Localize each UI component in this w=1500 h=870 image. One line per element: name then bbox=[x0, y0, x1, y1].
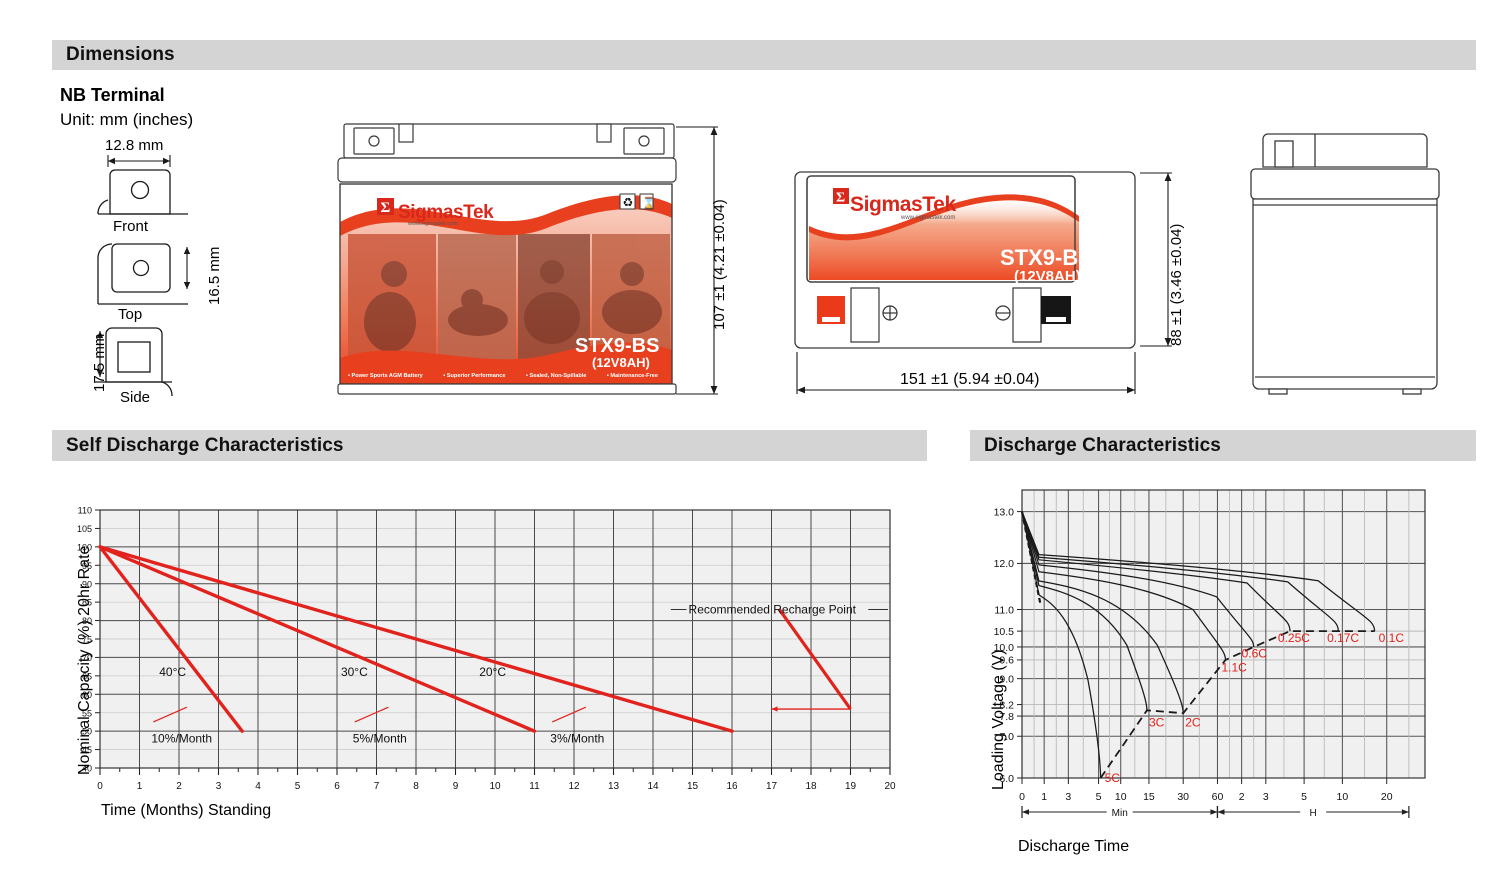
svg-text:Σ: Σ bbox=[836, 191, 845, 206]
svg-text:Min: Min bbox=[1112, 808, 1128, 819]
svg-text:60: 60 bbox=[1212, 791, 1224, 803]
feature-item: • Maintenance-Free bbox=[607, 373, 658, 379]
svg-text:40°C: 40°C bbox=[159, 665, 186, 679]
svg-text:14: 14 bbox=[647, 781, 659, 792]
nb-terminal-title: NB Terminal bbox=[60, 85, 165, 106]
terminal-view-front-label: Front bbox=[113, 218, 148, 235]
svg-text:7: 7 bbox=[374, 781, 380, 792]
self-discharge-ylabel: Nominal Capacity (%) 20hr Rate bbox=[76, 546, 94, 775]
svg-text:3: 3 bbox=[1263, 791, 1269, 803]
svg-text:5%/Month: 5%/Month bbox=[353, 732, 407, 746]
discharge-xlabel: Discharge Time bbox=[1018, 838, 1129, 856]
svg-text:1.1C: 1.1C bbox=[1221, 661, 1247, 675]
battery-front-features: • Power Sports AGM Battery • Superior Pe… bbox=[348, 373, 658, 379]
terminal-view-side-label: Side bbox=[120, 389, 150, 406]
discharge-section-header: Discharge Characteristics bbox=[970, 430, 1476, 461]
svg-text:12: 12 bbox=[568, 781, 580, 792]
battery-side-height-label: 88 ±1 (3.46 ±0.04) bbox=[1168, 224, 1185, 346]
self-discharge-chart: 4045505560657075808590951001051100123456… bbox=[52, 498, 902, 818]
svg-text:19: 19 bbox=[845, 781, 857, 792]
battery-back-view bbox=[1245, 125, 1445, 400]
dimensions-section-header: Dimensions bbox=[52, 40, 1476, 70]
terminal-width-label: 12.8 mm bbox=[105, 137, 163, 154]
svg-text:11: 11 bbox=[529, 781, 540, 792]
svg-text:30: 30 bbox=[1177, 791, 1189, 803]
svg-text:105: 105 bbox=[77, 524, 92, 534]
svg-text:10: 10 bbox=[1115, 791, 1127, 803]
svg-text:12.0: 12.0 bbox=[994, 558, 1015, 570]
svg-text:1: 1 bbox=[1041, 791, 1047, 803]
svg-text:0.17C: 0.17C bbox=[1327, 631, 1359, 645]
battery-height-label: 107 ±1 (4.21 ±0.04) bbox=[711, 199, 728, 330]
svg-text:20: 20 bbox=[884, 781, 896, 792]
svg-text:20°C: 20°C bbox=[479, 665, 506, 679]
svg-text:3: 3 bbox=[1065, 791, 1071, 803]
discharge-ylabel: Loading Voltage (V) bbox=[990, 649, 1008, 790]
battery-side-brand: SigmasTek bbox=[850, 193, 956, 217]
svg-text:20: 20 bbox=[1381, 791, 1393, 803]
svg-text:13: 13 bbox=[608, 781, 620, 792]
svg-text:Recommended Recharge Point: Recommended Recharge Point bbox=[689, 603, 857, 617]
svg-text:5C: 5C bbox=[1105, 771, 1121, 785]
self-discharge-xlabel: Time (Months) Standing bbox=[101, 802, 271, 820]
svg-text:10.5: 10.5 bbox=[994, 626, 1015, 638]
feature-item: • Power Sports AGM Battery bbox=[348, 373, 423, 379]
terminal-depth-label: 16.5 mm bbox=[206, 247, 223, 305]
svg-text:8: 8 bbox=[413, 781, 419, 792]
svg-text:0: 0 bbox=[97, 781, 103, 792]
svg-text:10: 10 bbox=[489, 781, 501, 792]
svg-text:3%/Month: 3%/Month bbox=[550, 732, 604, 746]
svg-text:5: 5 bbox=[295, 781, 301, 792]
svg-text:10%/Month: 10%/Month bbox=[151, 732, 212, 746]
svg-text:9: 9 bbox=[453, 781, 459, 792]
feature-item: • Sealed, Non-Spillable bbox=[526, 373, 586, 379]
svg-text:5: 5 bbox=[1096, 791, 1102, 803]
svg-text:2: 2 bbox=[176, 781, 182, 792]
svg-text:Σ: Σ bbox=[381, 200, 391, 216]
svg-text:3C: 3C bbox=[1149, 715, 1165, 729]
svg-text:2: 2 bbox=[1239, 791, 1245, 803]
svg-text:H: H bbox=[1310, 808, 1317, 819]
svg-text:17: 17 bbox=[766, 781, 778, 792]
svg-text:15: 15 bbox=[687, 781, 699, 792]
svg-text:11.0: 11.0 bbox=[994, 604, 1014, 616]
svg-text:110: 110 bbox=[78, 506, 92, 516]
svg-text:5: 5 bbox=[1301, 791, 1307, 803]
svg-text:0.25C: 0.25C bbox=[1278, 631, 1310, 645]
svg-text:13.0: 13.0 bbox=[994, 506, 1015, 518]
feature-item: • Superior Performance bbox=[443, 373, 505, 379]
dimensions-title: Dimensions bbox=[52, 44, 175, 66]
terminal-view-top-label: Top bbox=[118, 306, 142, 323]
battery-side-website: www.sigmastek.com bbox=[901, 215, 955, 221]
svg-text:16: 16 bbox=[726, 781, 738, 792]
self-discharge-section-header: Self Discharge Characteristics bbox=[52, 430, 927, 461]
svg-text:10: 10 bbox=[1337, 791, 1349, 803]
svg-text:⌛: ⌛ bbox=[642, 197, 656, 210]
svg-text:0.6C: 0.6C bbox=[1242, 646, 1268, 660]
discharge-title: Discharge Characteristics bbox=[970, 435, 1221, 457]
battery-width-label: 151 ±1 (5.94 ±0.04) bbox=[900, 371, 1039, 389]
svg-text:18: 18 bbox=[805, 781, 817, 792]
svg-text:30°C: 30°C bbox=[341, 665, 368, 679]
svg-text:3: 3 bbox=[216, 781, 222, 792]
svg-text:2C: 2C bbox=[1185, 715, 1201, 729]
battery-front-spec: (12V8AH) bbox=[592, 355, 650, 370]
discharge-chart: 6.07.07.88.29.09.610.010.511.012.013.001… bbox=[970, 478, 1440, 848]
terminal-height-label: 17.5 mm bbox=[91, 334, 108, 392]
svg-text:0: 0 bbox=[1019, 791, 1025, 803]
unit-label: Unit: mm (inches) bbox=[60, 110, 193, 130]
svg-text:15: 15 bbox=[1143, 791, 1155, 803]
battery-side-spec: (12V8AH) bbox=[1014, 268, 1081, 285]
self-discharge-title: Self Discharge Characteristics bbox=[52, 435, 344, 457]
svg-text:6: 6 bbox=[334, 781, 340, 792]
svg-text:♻: ♻ bbox=[623, 196, 634, 210]
battery-front-website: www.sigmastek.com bbox=[408, 221, 458, 227]
svg-text:1: 1 bbox=[137, 781, 143, 792]
svg-text:0.1C: 0.1C bbox=[1379, 631, 1405, 645]
svg-text:4: 4 bbox=[255, 781, 261, 792]
